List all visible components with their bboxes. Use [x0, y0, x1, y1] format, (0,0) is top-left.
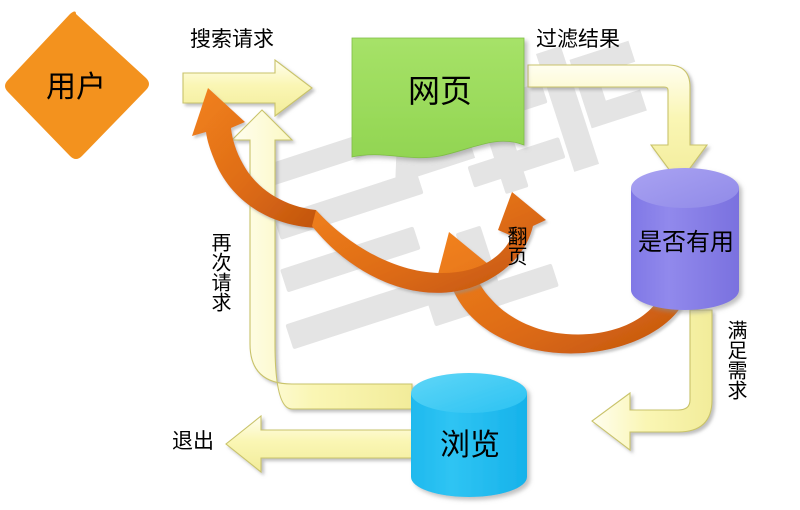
edge-label-filter-result: 过滤结果 [536, 28, 620, 50]
node-label-user: 用户 [18, 62, 134, 106]
node-label-useful: 是否有用 [625, 222, 747, 257]
flowchart-canvas: 用户 网页 是否有用 浏览 搜索请求 过滤结果 再次请求 翻页 满足需求 退出 [0, 0, 800, 510]
edge-label-search-request: 搜索请求 [190, 28, 274, 50]
edge-label-exit: 退出 [172, 430, 214, 452]
node-label-browse: 浏览 [409, 420, 531, 464]
edge-label-meet-demand: 满足需求 [726, 320, 746, 400]
edge-label-request-again: 再次请求 [210, 232, 230, 312]
edge-label-page-turn: 翻页 [506, 226, 526, 266]
node-label-page: 网页 [372, 66, 508, 112]
